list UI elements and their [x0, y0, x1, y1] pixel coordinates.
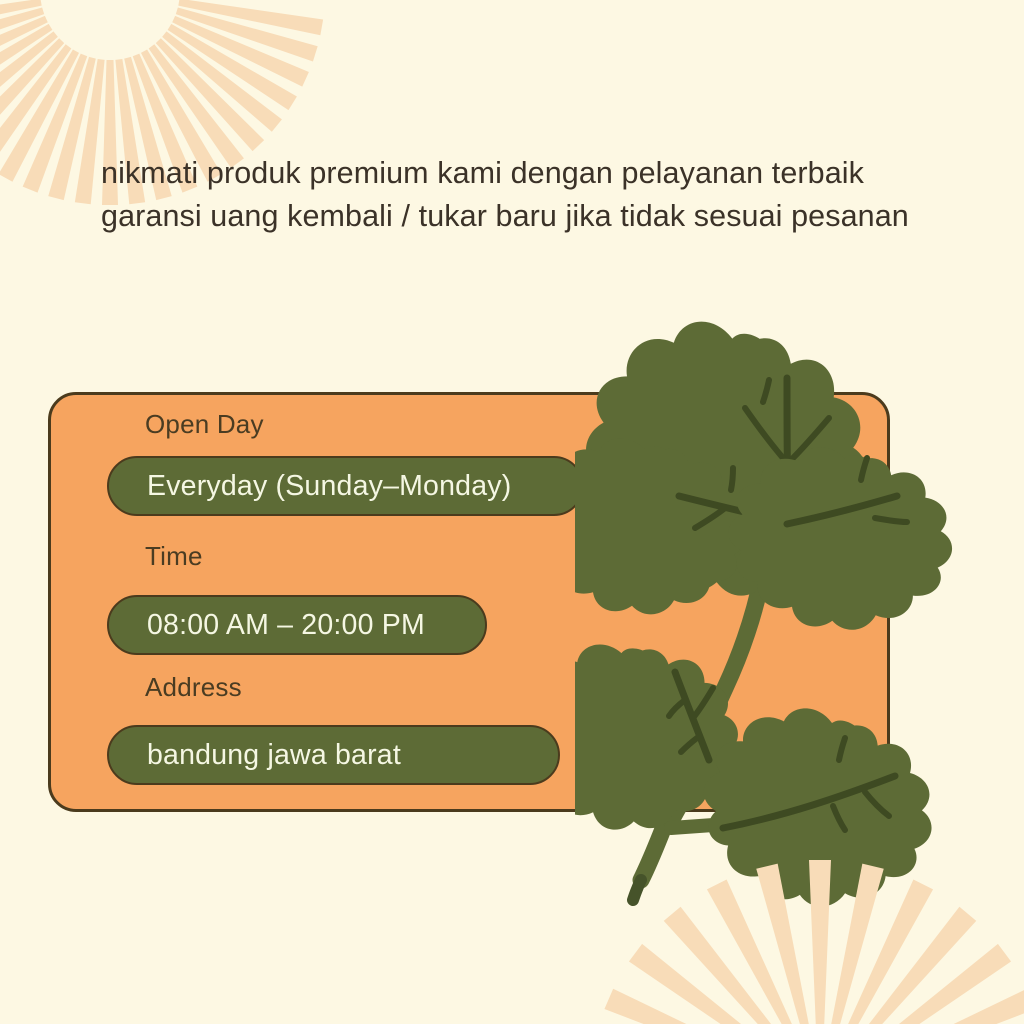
- time-label: Time: [145, 541, 203, 572]
- address-value-pill[interactable]: bandung jawa barat: [107, 725, 560, 785]
- sunburst-ray: [149, 44, 244, 168]
- sunburst-ray: [0, 24, 52, 110]
- sunburst-ray: [23, 54, 88, 193]
- sunburst-ray: [856, 907, 977, 1024]
- sunburst-ray: [178, 0, 323, 35]
- info-card: Open Day Everyday (Sunday–Monday) Time 0…: [48, 392, 890, 812]
- plant-branch-right: [671, 816, 843, 828]
- sunburst-ray: [0, 38, 64, 151]
- sunburst-ray: [0, 49, 79, 181]
- time-value: 08:00 AM – 20:00 PM: [147, 609, 425, 642]
- address-label: Address: [145, 672, 242, 703]
- sunburst-ray: [156, 38, 264, 151]
- sunburst-ray: [172, 16, 309, 87]
- sunburst-ray: [48, 57, 96, 200]
- sunburst-ray: [830, 864, 884, 1024]
- open-day-value-pill[interactable]: Everyday (Sunday–Monday): [107, 456, 584, 516]
- sunburst-ray: [756, 864, 810, 1024]
- sunburst-ray: [664, 907, 785, 1024]
- poster-canvas: nikmati produk premium kami dengan pelay…: [0, 0, 1024, 1024]
- sunburst-ray: [0, 0, 42, 35]
- sunburst-ray: [866, 944, 1011, 1024]
- sunburst-ray: [707, 880, 797, 1024]
- plant-stem-tip: [633, 880, 641, 900]
- sunburst-ray: [604, 989, 766, 1024]
- open-day-label: Open Day: [145, 409, 264, 440]
- sunburst-ray: [874, 989, 1024, 1024]
- sunburst-ray: [0, 7, 44, 61]
- sunburst-ray: [809, 860, 831, 1024]
- sunburst-ray: [0, 31, 58, 131]
- time-value-pill[interactable]: 08:00 AM – 20:00 PM: [107, 595, 487, 655]
- sunburst-ray: [0, 44, 71, 168]
- sunburst-ray: [843, 880, 933, 1024]
- sunburst-ray: [629, 944, 774, 1024]
- sunburst-ray: [176, 7, 318, 61]
- sunburst-bottom-icon: [585, 855, 1024, 1024]
- sunburst-ray: [168, 24, 297, 110]
- page-headline: nikmati produk premium kami dengan pelay…: [101, 152, 921, 238]
- sunburst-ray: [162, 31, 282, 131]
- address-value: bandung jawa barat: [147, 739, 401, 772]
- sunburst-ray: [0, 16, 48, 87]
- open-day-value: Everyday (Sunday–Monday): [147, 470, 511, 503]
